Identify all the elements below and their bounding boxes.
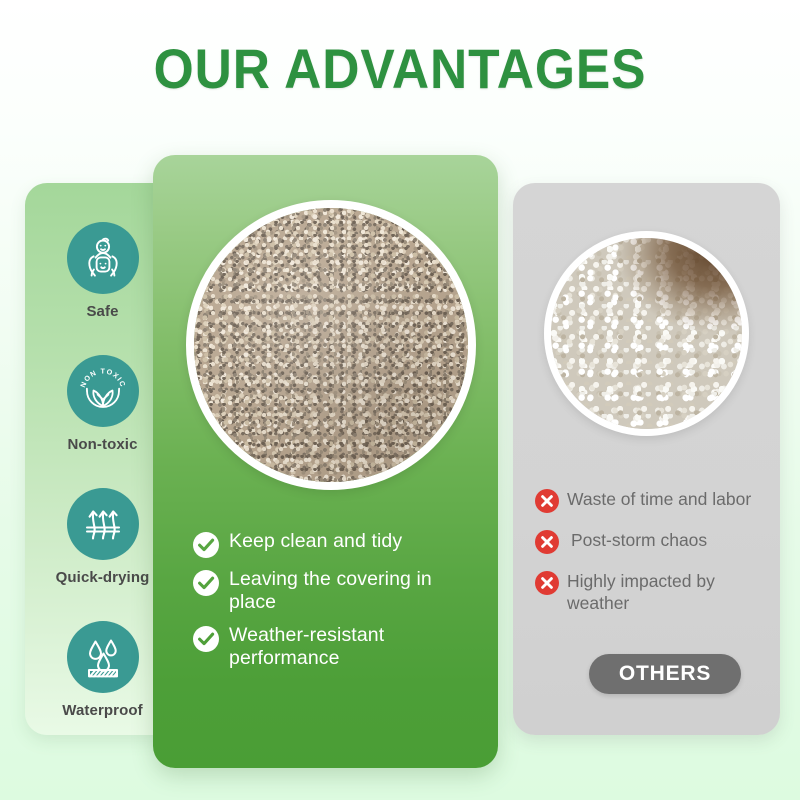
list-item: Highly impacted by weather bbox=[535, 570, 780, 614]
others-drawback-list: Waste of time and labor Post-storm chaos… bbox=[535, 488, 780, 630]
x-circle-icon bbox=[535, 489, 559, 513]
list-item: Keep clean and tidy bbox=[193, 530, 483, 558]
baby-and-pet-safe-icon bbox=[67, 222, 139, 294]
ours-product-photo bbox=[186, 200, 476, 490]
benefit-text: Leaving the covering in place bbox=[229, 568, 483, 614]
others-badge: OTHERS bbox=[589, 654, 741, 694]
x-circle-icon bbox=[535, 571, 559, 595]
others-card: Waste of time and labor Post-storm chaos… bbox=[513, 183, 780, 735]
x-circle-icon bbox=[535, 530, 559, 554]
check-circle-icon bbox=[193, 570, 219, 596]
quick-drying-airflow-icon bbox=[67, 488, 139, 560]
ours-benefit-list: Keep clean and tidy Leaving the covering… bbox=[193, 530, 483, 680]
benefit-text: Keep clean and tidy bbox=[229, 530, 402, 553]
drawback-text: Waste of time and labor bbox=[567, 488, 751, 510]
svg-text:NON TOXIC: NON TOXIC bbox=[78, 366, 128, 388]
page-title: OUR ADVANTAGES bbox=[32, 36, 768, 101]
list-item: Leaving the covering in place bbox=[193, 568, 483, 614]
non-toxic-leaf-icon: NON TOXIC bbox=[67, 355, 139, 427]
ours-card: Keep clean and tidy Leaving the covering… bbox=[153, 155, 498, 768]
benefit-text: Weather-resistant performance bbox=[229, 624, 483, 670]
list-item: Weather-resistant performance bbox=[193, 624, 483, 670]
check-circle-icon bbox=[193, 626, 219, 652]
list-item: Waste of time and labor bbox=[535, 488, 780, 513]
drawback-text: Post-storm chaos bbox=[571, 529, 707, 551]
check-circle-icon bbox=[193, 532, 219, 558]
others-product-photo bbox=[544, 231, 749, 436]
list-item: Post-storm chaos bbox=[535, 529, 780, 554]
waterproof-droplets-icon bbox=[67, 621, 139, 693]
drawback-text: Highly impacted by weather bbox=[567, 570, 780, 614]
